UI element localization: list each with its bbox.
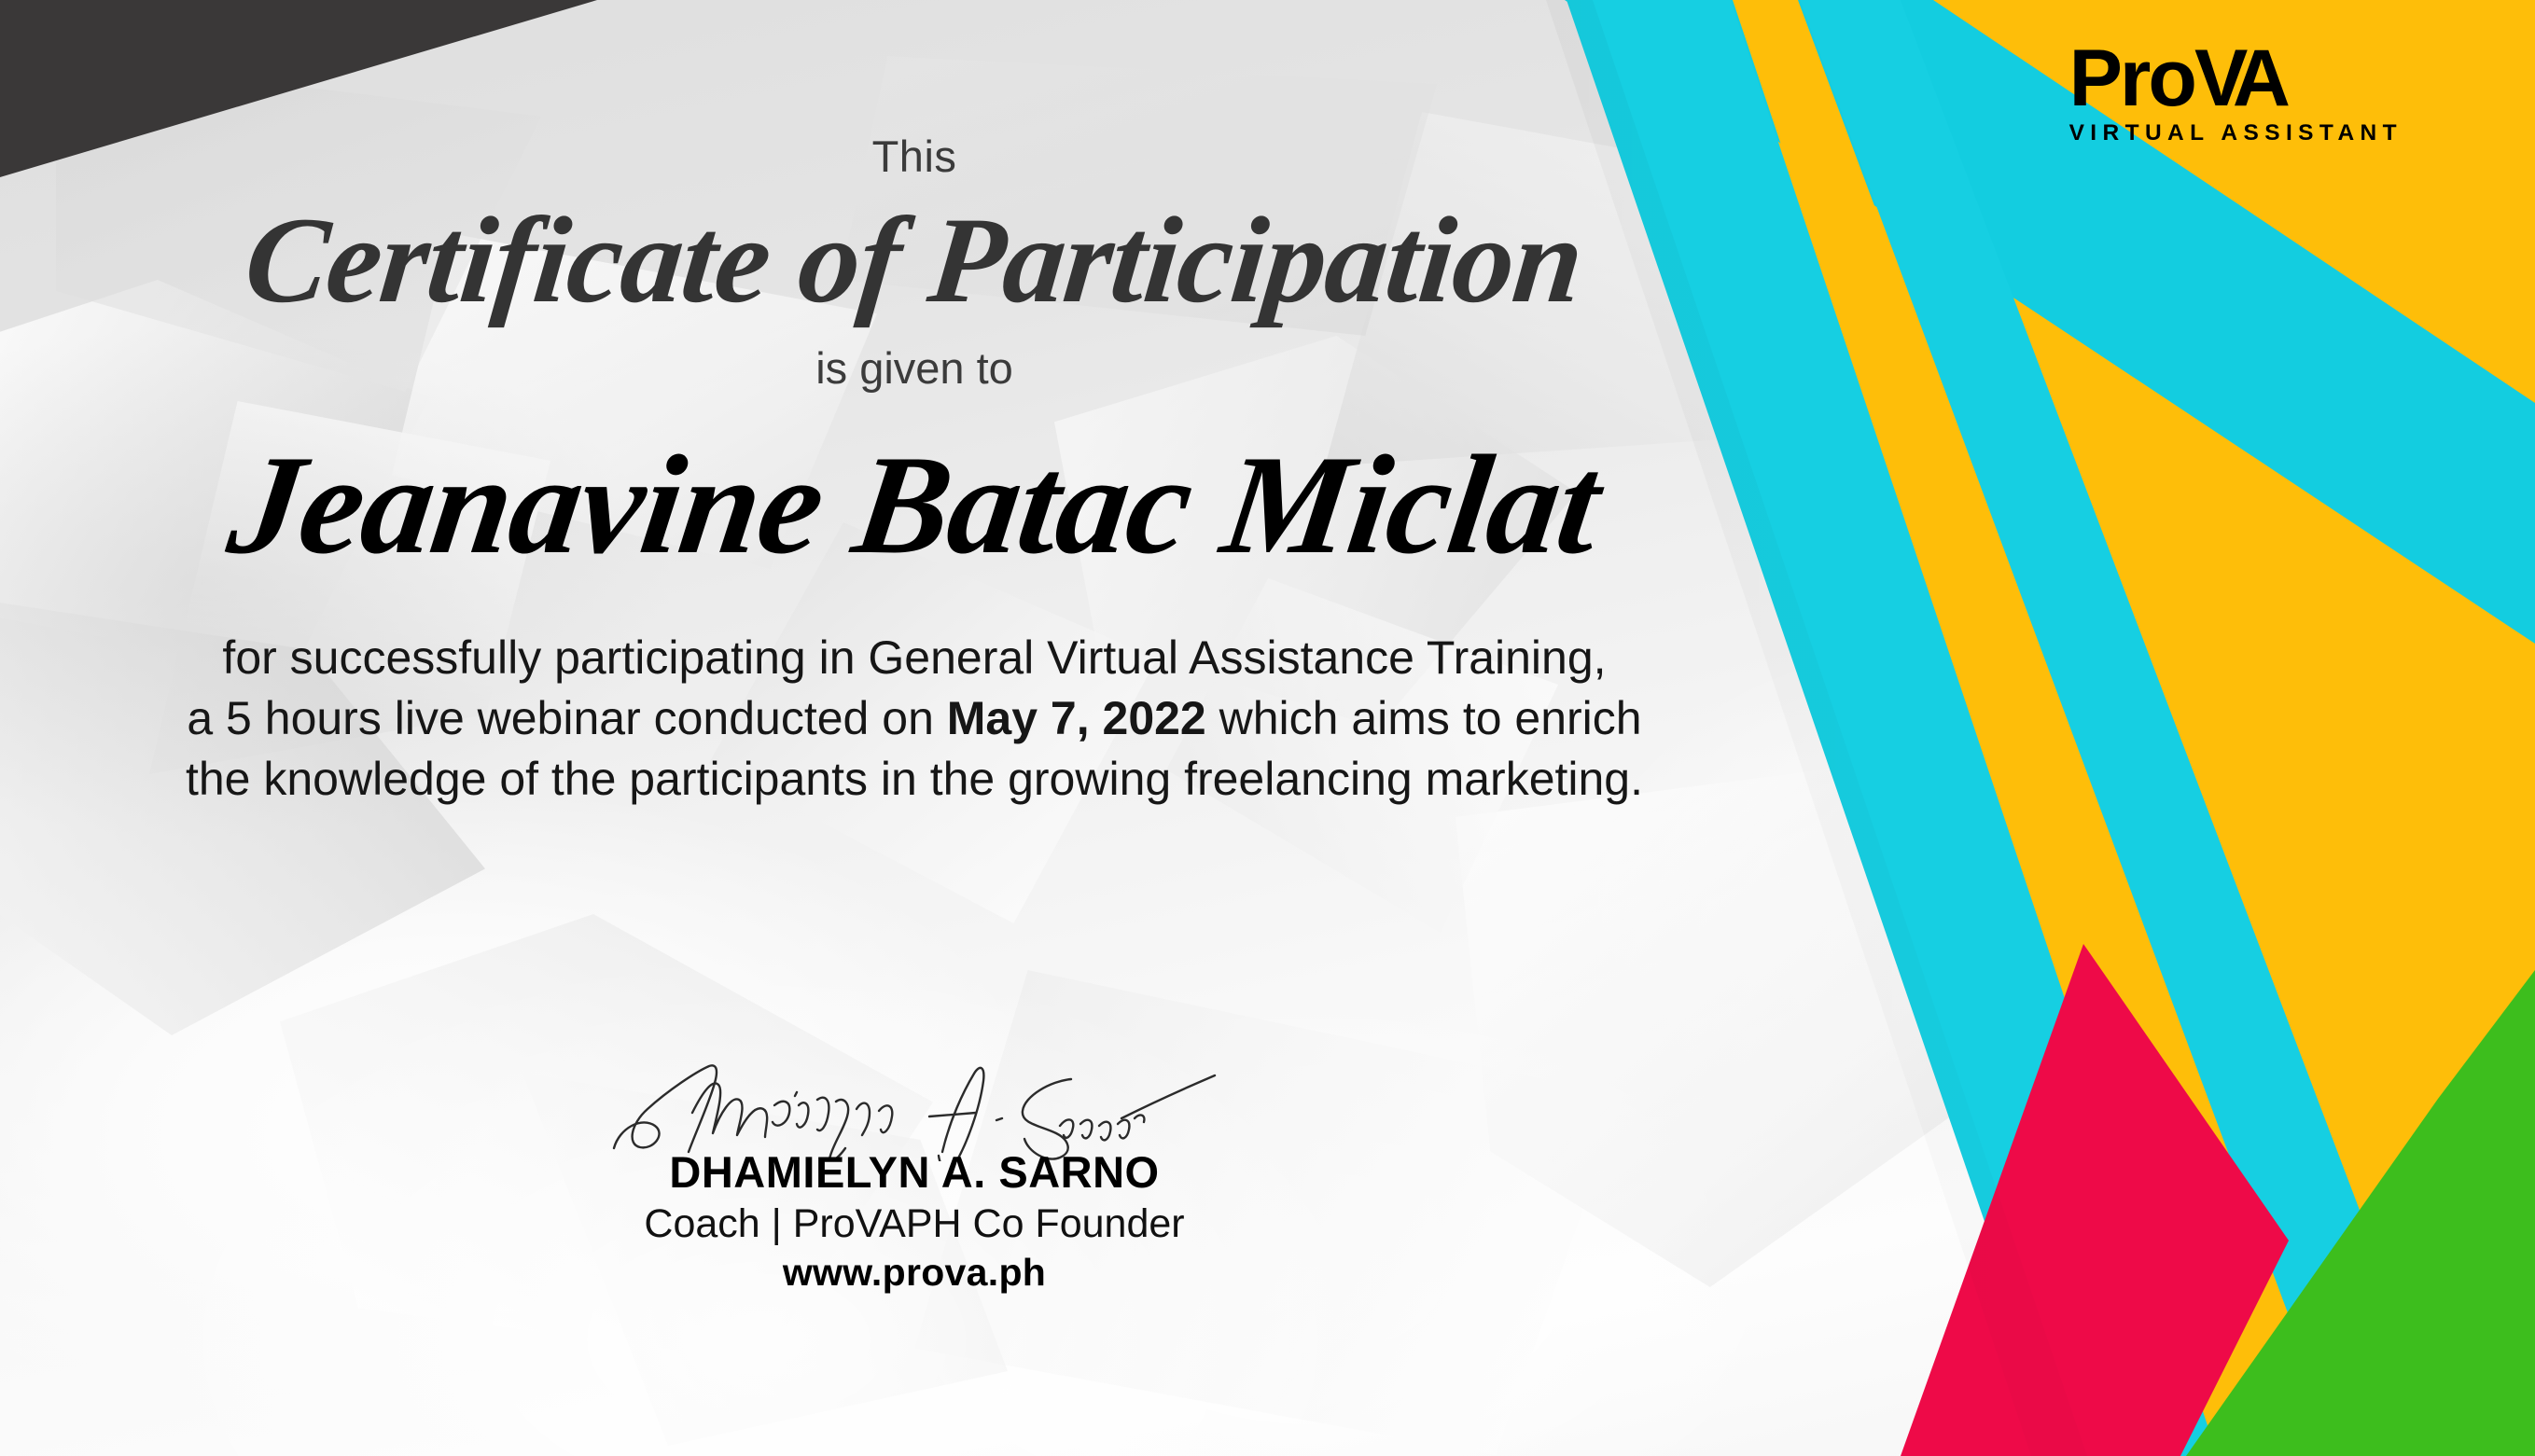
signature-block: DHAMIELYN A. SARNO Coach | ProVAPH Co Fo… [0, 1059, 1829, 1295]
logo-wordmark: ProVA [2069, 39, 2403, 118]
body-line-2-before: a 5 hours live webinar conducted on [187, 692, 946, 744]
recipient-name: Jeanavine Batac Miclat [220, 427, 1609, 583]
signatory-role: Coach | ProVAPH Co Founder [644, 1201, 1184, 1247]
logo-tagline: VIRTUAL ASSISTANT [2069, 120, 2403, 146]
body-line-2: a 5 hours live webinar conducted on May … [186, 688, 1643, 749]
logo-word-va: VA [2194, 34, 2281, 123]
body-line-1: for successfully participating in Genera… [186, 628, 1643, 688]
prova-logo: ProVA VIRTUAL ASSISTANT [2069, 39, 2403, 146]
webinar-date: May 7, 2022 [947, 692, 1206, 744]
body-line-2-after: which aims to enrich [1206, 692, 1642, 744]
body-line-3: the knowledge of the participants in the… [186, 749, 1643, 810]
signatory-website[interactable]: www.prova.ph [783, 1251, 1046, 1295]
given-to-label: is given to [815, 342, 1013, 394]
intro-text: This [872, 131, 957, 182]
certificate-canvas: ProVA VIRTUAL ASSISTANT This Certificate… [0, 0, 2535, 1456]
logo-word-pro: Pro [2069, 34, 2194, 123]
signatory-name: DHAMIELYN A. SARNO [669, 1146, 1159, 1198]
certificate-body: for successfully participating in Genera… [186, 628, 1643, 810]
certificate-title: Certificate of Participation [239, 187, 1590, 333]
